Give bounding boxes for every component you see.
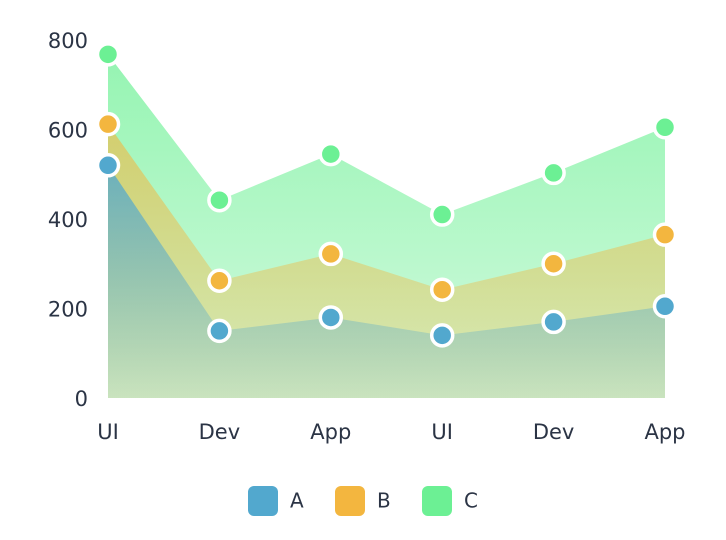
- data-point-a-3[interactable]: [432, 325, 453, 346]
- data-point-b-4[interactable]: [543, 253, 564, 274]
- x-tick-label-2: App: [310, 420, 351, 444]
- legend-label-a[interactable]: A: [290, 489, 304, 513]
- data-point-c-0[interactable]: [98, 44, 119, 65]
- chart-canvas: 0200400600800 UIDevAppUIDevApp ABC: [0, 0, 726, 540]
- x-tick-label-1: Dev: [199, 420, 241, 444]
- data-point-a-5[interactable]: [655, 296, 676, 317]
- legend-label-c[interactable]: C: [464, 489, 478, 513]
- data-point-b-2[interactable]: [320, 243, 341, 264]
- data-point-c-4[interactable]: [543, 162, 564, 183]
- y-tick-label-0: 0: [75, 387, 88, 411]
- y-tick-label-4: 800: [48, 29, 88, 53]
- data-point-a-0[interactable]: [98, 155, 119, 176]
- y-tick-label-1: 200: [48, 298, 88, 322]
- y-tick-label-2: 400: [48, 208, 88, 232]
- data-point-a-2[interactable]: [320, 307, 341, 328]
- legend-swatch-b[interactable]: [335, 486, 365, 516]
- data-point-b-0[interactable]: [98, 114, 119, 135]
- data-point-b-1[interactable]: [209, 270, 230, 291]
- chart-legend: ABC: [248, 486, 478, 516]
- x-tick-label-3: UI: [431, 420, 453, 444]
- y-axis-tick-labels: 0200400600800: [48, 29, 88, 411]
- data-point-b-5[interactable]: [655, 224, 676, 245]
- data-point-b-3[interactable]: [432, 279, 453, 300]
- y-tick-label-3: 600: [48, 119, 88, 143]
- legend-label-b[interactable]: B: [377, 489, 391, 513]
- area-series-group: [108, 54, 665, 398]
- data-point-c-2[interactable]: [320, 144, 341, 165]
- x-tick-label-5: App: [644, 420, 685, 444]
- data-point-c-3[interactable]: [432, 204, 453, 225]
- area-chart: 0200400600800 UIDevAppUIDevApp ABC: [0, 0, 726, 540]
- x-tick-label-0: UI: [97, 420, 119, 444]
- data-point-c-5[interactable]: [655, 117, 676, 138]
- x-tick-label-4: Dev: [533, 420, 575, 444]
- legend-swatch-c[interactable]: [422, 486, 452, 516]
- data-point-c-1[interactable]: [209, 190, 230, 211]
- legend-swatch-a[interactable]: [248, 486, 278, 516]
- data-point-a-4[interactable]: [543, 311, 564, 332]
- data-point-a-1[interactable]: [209, 320, 230, 341]
- x-axis-tick-labels: UIDevAppUIDevApp: [97, 420, 685, 444]
